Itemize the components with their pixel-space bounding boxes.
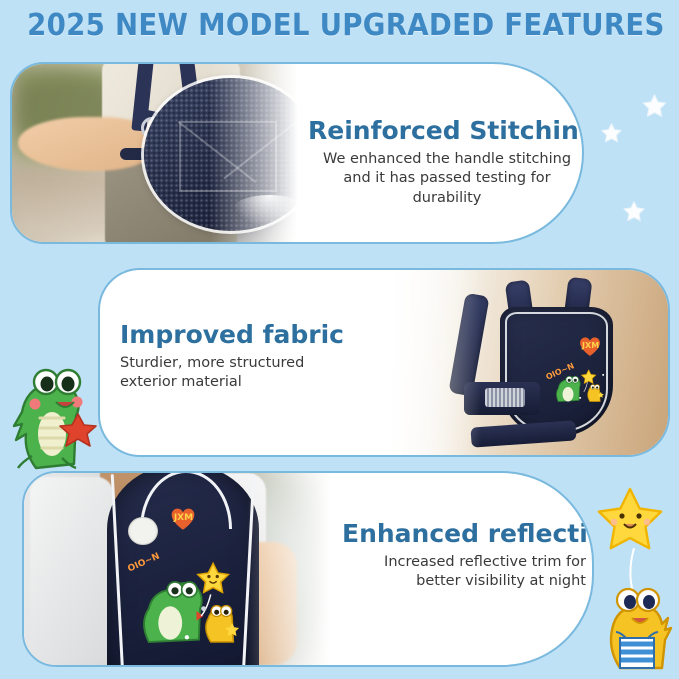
safety-harness-vest: OIO~N	[107, 473, 260, 665]
brand-logo-text: JXM	[174, 513, 193, 523]
brand-logo-text: JXM	[582, 341, 599, 350]
feature-body-line-2: better visibility at night	[324, 572, 586, 591]
brand-logo: JXM	[582, 341, 599, 350]
dinosaur-print-graphic: OIO~N	[125, 538, 244, 663]
green-dinosaur-mascot	[6, 352, 98, 474]
feature-body-line-2: exterior material	[120, 373, 370, 392]
feature-body: Sturdier, more structured exterior mater…	[120, 354, 370, 392]
feature-body-line-1: We enhanced the handle stitching	[308, 150, 584, 169]
infographic-canvas: 2025 NEW MODEL UPGRADED FEATURES	[0, 0, 679, 679]
yellow-dinosaur-mascot	[596, 560, 676, 672]
feature-card-improved-fabric: OIO~N	[98, 268, 670, 457]
feature-image-child-wearing-vest: OIO~N	[24, 473, 342, 665]
feature-title: Reinforced Stitching	[308, 118, 584, 144]
feature-text-block: Enhanced reflectivity Increased reflecti…	[324, 521, 586, 592]
feature-title: Enhanced reflectivity	[324, 521, 586, 547]
feature-body-line-1: Increased reflective trim for	[324, 553, 586, 572]
reflective-patch	[128, 517, 157, 545]
feature-body: We enhanced the handle stitching and it …	[308, 150, 584, 207]
feature-card-enhanced-reflectivity: OIO~N	[22, 471, 594, 667]
feature-body-line-1: Sturdier, more structured	[120, 354, 370, 373]
feature-text-block: Reinforced Stitching We enhanced the han…	[308, 118, 584, 208]
feature-title: Improved fabric	[120, 322, 370, 348]
feature-text-block: Improved fabric Sturdier, more structure…	[120, 322, 370, 393]
decorative-star-icon	[600, 122, 623, 145]
feature-image-handle-stitching	[12, 64, 312, 242]
decorative-star-icon	[622, 200, 646, 224]
decorative-star-icon	[641, 93, 668, 120]
feature-image-harness-product: OIO~N	[376, 270, 668, 455]
page-title: 2025 NEW MODEL UPGRADED FEATURES	[27, 8, 652, 43]
brand-logo: JXM	[174, 513, 193, 523]
dinosaur-print-graphic: OIO~N	[545, 354, 606, 414]
feature-card-reinforced-stitching: Reinforced Stitching We enhanced the han…	[10, 62, 584, 244]
feature-body-line-2: and it has passed testing for durability	[308, 169, 584, 207]
feature-body: Increased reflective trim for better vis…	[324, 553, 586, 591]
